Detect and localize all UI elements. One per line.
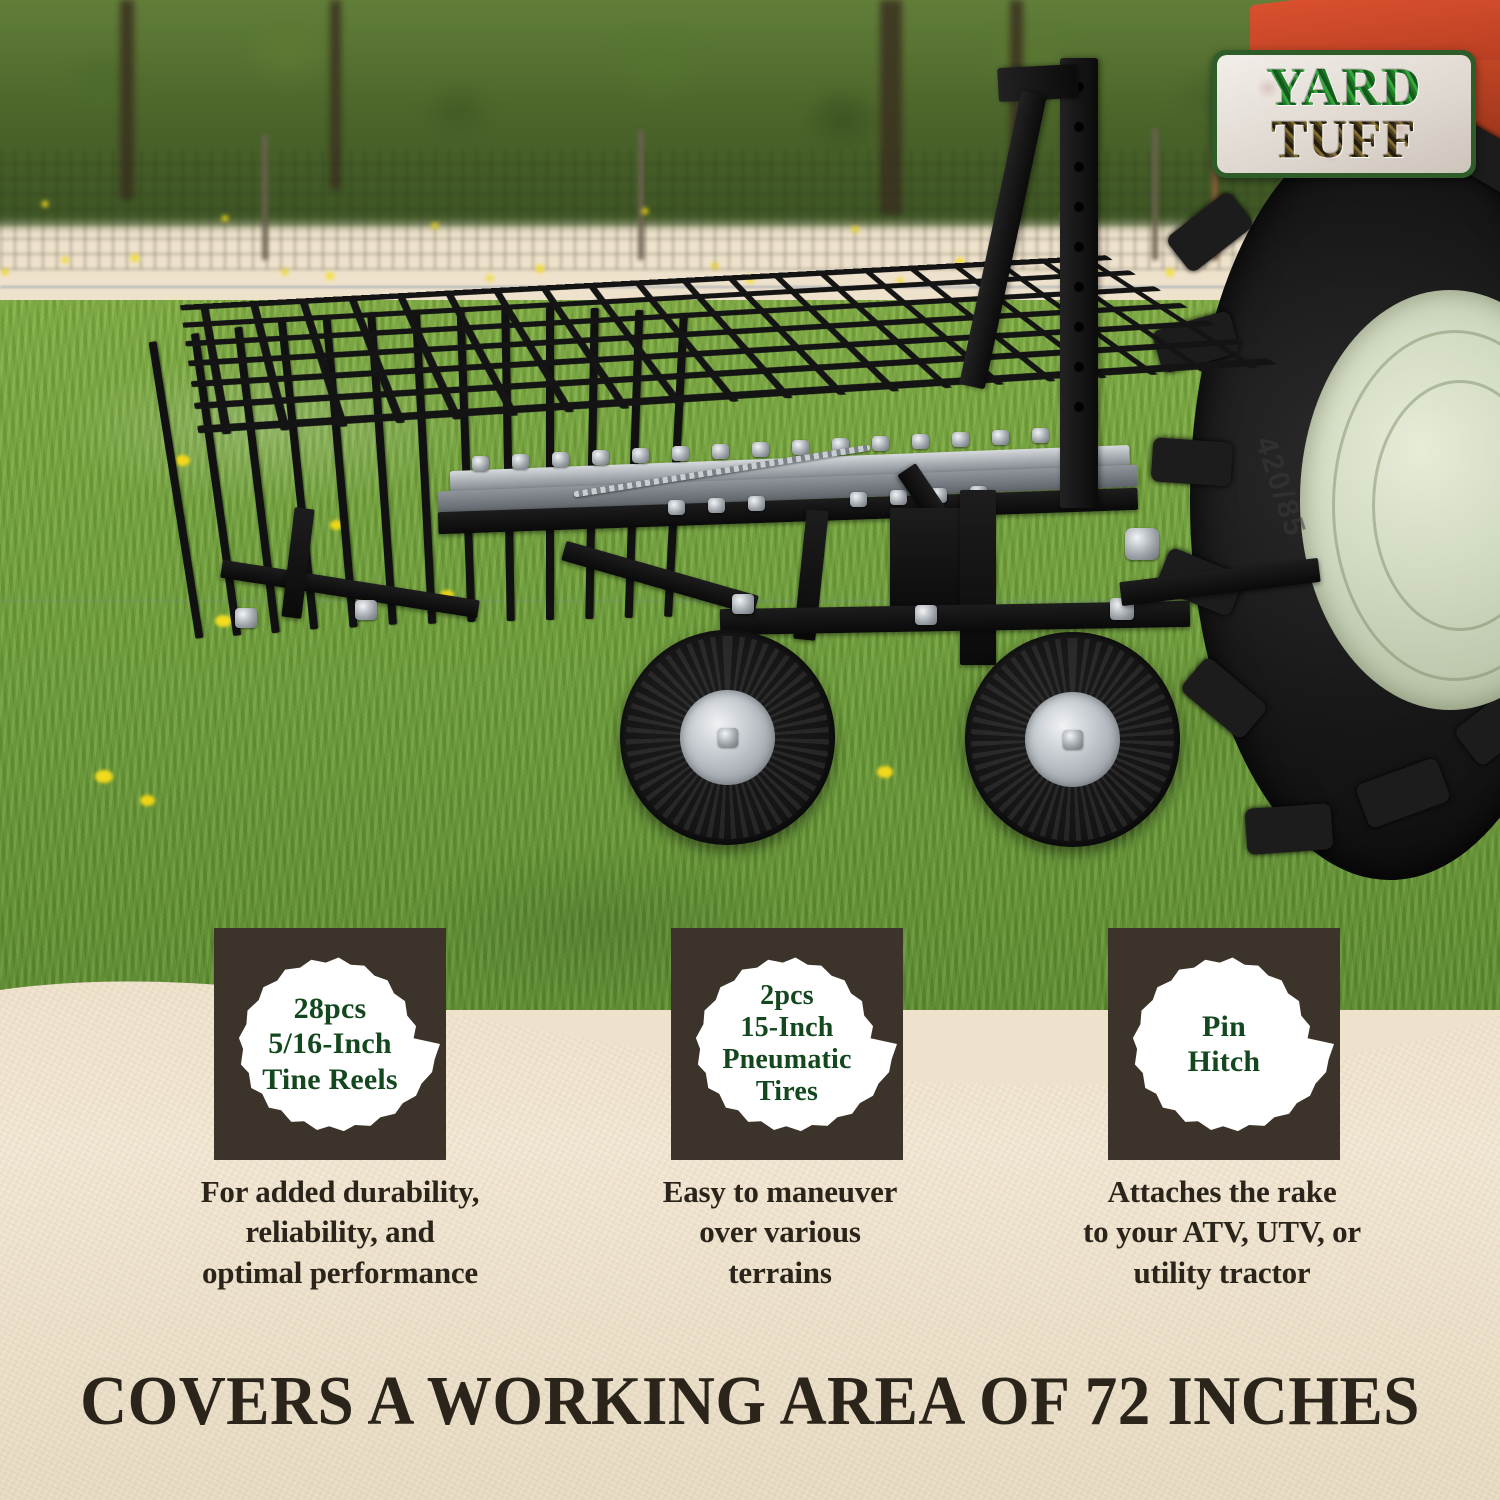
feature-caption-3: Attaches the rake to your ATV, UTV, or u… bbox=[1012, 1172, 1432, 1293]
badge-2-text: 2pcs 15-Inch Pneumatic Tires bbox=[692, 980, 882, 1108]
rake-grid bbox=[180, 255, 1304, 453]
feature-badge-3: Pin Hitch bbox=[1108, 928, 1340, 1160]
yard-tuff-logo: YARD TUFF bbox=[1212, 50, 1476, 178]
product-photo: 420/85 bbox=[0, 0, 1500, 1010]
badge-1-text: 28pcs 5/16-Inch Tine Reels bbox=[235, 991, 425, 1097]
landscape-rake bbox=[60, 60, 1240, 860]
pivot-bolt bbox=[1125, 528, 1159, 560]
headline: COVERS A WORKING AREA OF 72 INCHES bbox=[53, 1362, 1448, 1442]
feature-caption-1: For added durability, reliability, and o… bbox=[110, 1172, 570, 1293]
logo-word-yard: YARD bbox=[1266, 62, 1421, 114]
logo-word-tuff: TUFF bbox=[1272, 114, 1417, 166]
feature-caption-2: Easy to maneuver over various terrains bbox=[575, 1172, 985, 1293]
rake-upright bbox=[960, 490, 996, 665]
feature-badge-1: 28pcs 5/16-Inch Tine Reels bbox=[214, 928, 446, 1160]
badge-3-text: Pin Hitch bbox=[1129, 1009, 1319, 1080]
product-marketing-image: 420/85 bbox=[0, 0, 1500, 1500]
feature-badge-2: 2pcs 15-Inch Pneumatic Tires bbox=[671, 928, 903, 1160]
